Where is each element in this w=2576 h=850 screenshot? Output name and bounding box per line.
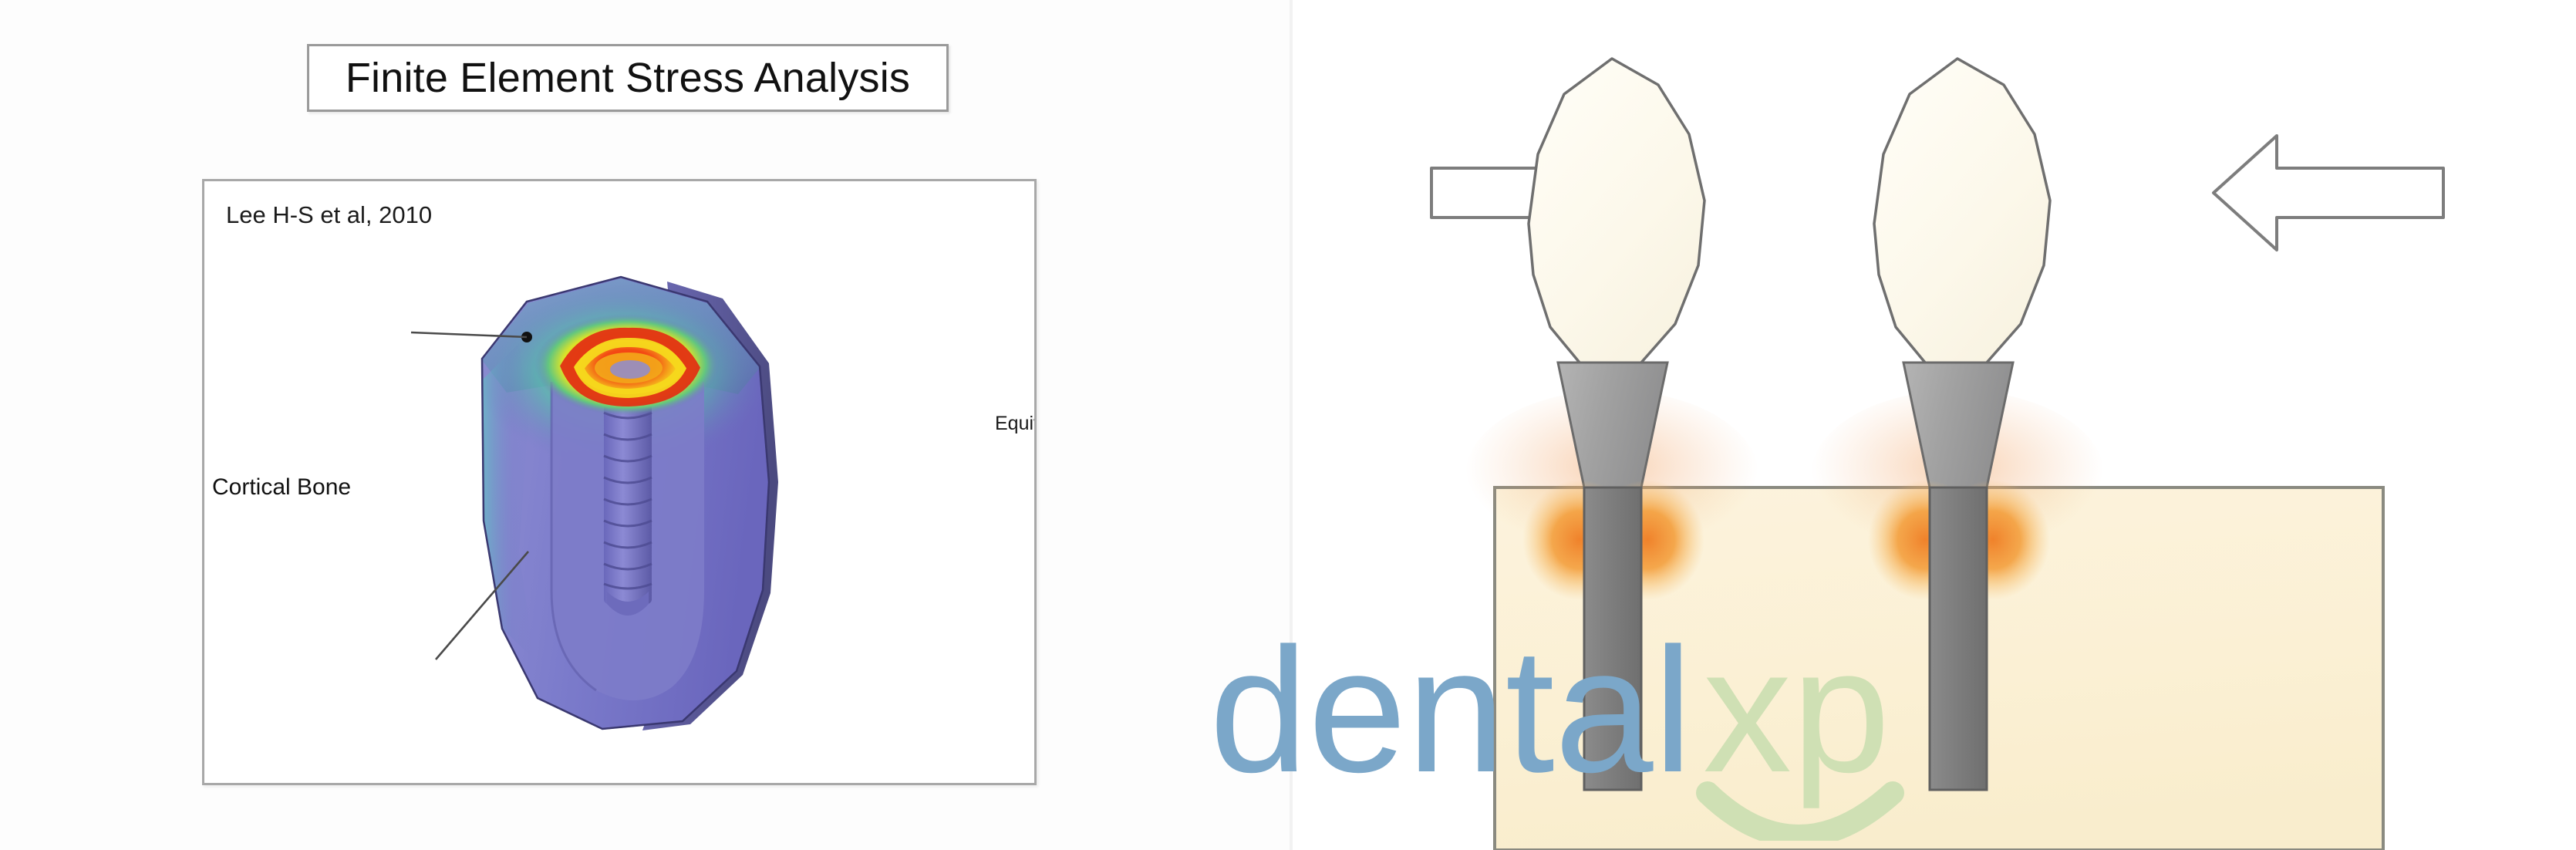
slide-title-box: Finite Element Stress Analysis: [307, 44, 949, 112]
cortical-anchor-dot: [521, 332, 532, 342]
annotation-cortical-bone: Cortical Bone: [212, 474, 351, 501]
fea-bone-model: [436, 228, 814, 760]
page-title: Finite Element Stress Analysis: [346, 54, 910, 102]
right-panel: [1293, 0, 2576, 850]
figure-citation: Lee H-S et al, 2010: [226, 201, 432, 229]
colorbar-title: Equivalent stress(MPa): [995, 413, 1037, 435]
implant-body-right: [1930, 487, 1987, 790]
fea-figure-frame: Lee H-S et al, 2010: [202, 179, 1037, 785]
implant-schematic: [1293, 0, 2576, 850]
crown-right: [1874, 59, 2050, 383]
implant-body-left: [1584, 487, 1641, 790]
crown-left: [1529, 59, 1704, 383]
left-panel: Finite Element Stress Analysis Lee H-S e…: [0, 0, 1290, 850]
right-load-arrow: [2214, 136, 2443, 250]
slide-canvas: Finite Element Stress Analysis Lee H-S e…: [0, 0, 2576, 850]
